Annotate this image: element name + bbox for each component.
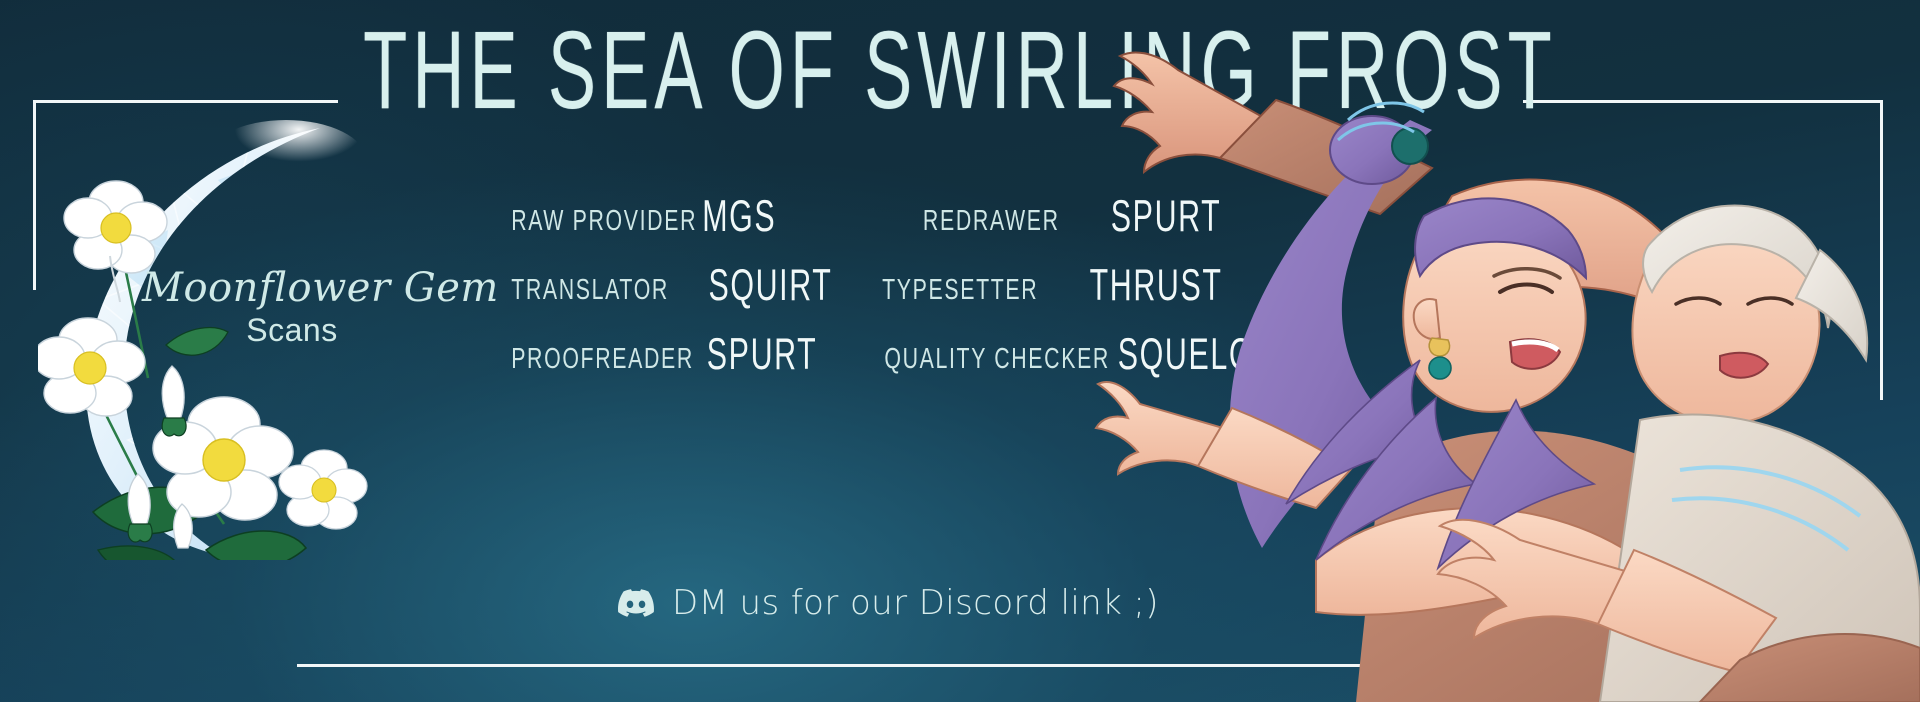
moonflower-gem-logo: Moonflower Gem Scans	[38, 120, 458, 560]
credit-row: TRANSLATOR SQUIRT	[495, 265, 865, 308]
credit-role-label: RAW PROVIDER	[511, 203, 659, 238]
credits-page: THE SEA OF SWIRLING FROST	[0, 0, 1920, 702]
credit-name-value: MGS	[702, 192, 776, 243]
face-purple-hair	[1403, 198, 1586, 411]
credit-row: PROOFREADER SPURT	[495, 334, 865, 377]
credit-role-label: PROOFREADER	[511, 341, 659, 376]
credit-name-value: SQUIRT	[708, 261, 832, 312]
frame-top-left-vertical	[33, 100, 36, 290]
credit-name-value: SPURT	[707, 330, 817, 381]
credit-role-label: TYPESETTER	[882, 272, 1038, 307]
credit-role-label: REDRAWER	[884, 203, 1059, 238]
crescent-moon-icon	[38, 120, 458, 560]
credit-role-label: TRANSLATOR	[511, 272, 659, 307]
cover-illustration	[1080, 0, 1920, 702]
moonflower-icon	[38, 181, 367, 548]
face-white-hair	[1632, 205, 1867, 423]
couple-illustration	[1080, 0, 1920, 702]
discord-icon	[618, 589, 654, 617]
credit-role-label: QUALITY CHECKER	[884, 341, 1060, 376]
discord-invite[interactable]: DM us for our Discord link ;)	[618, 583, 1159, 623]
credit-row: RAW PROVIDER MGS	[495, 196, 865, 239]
